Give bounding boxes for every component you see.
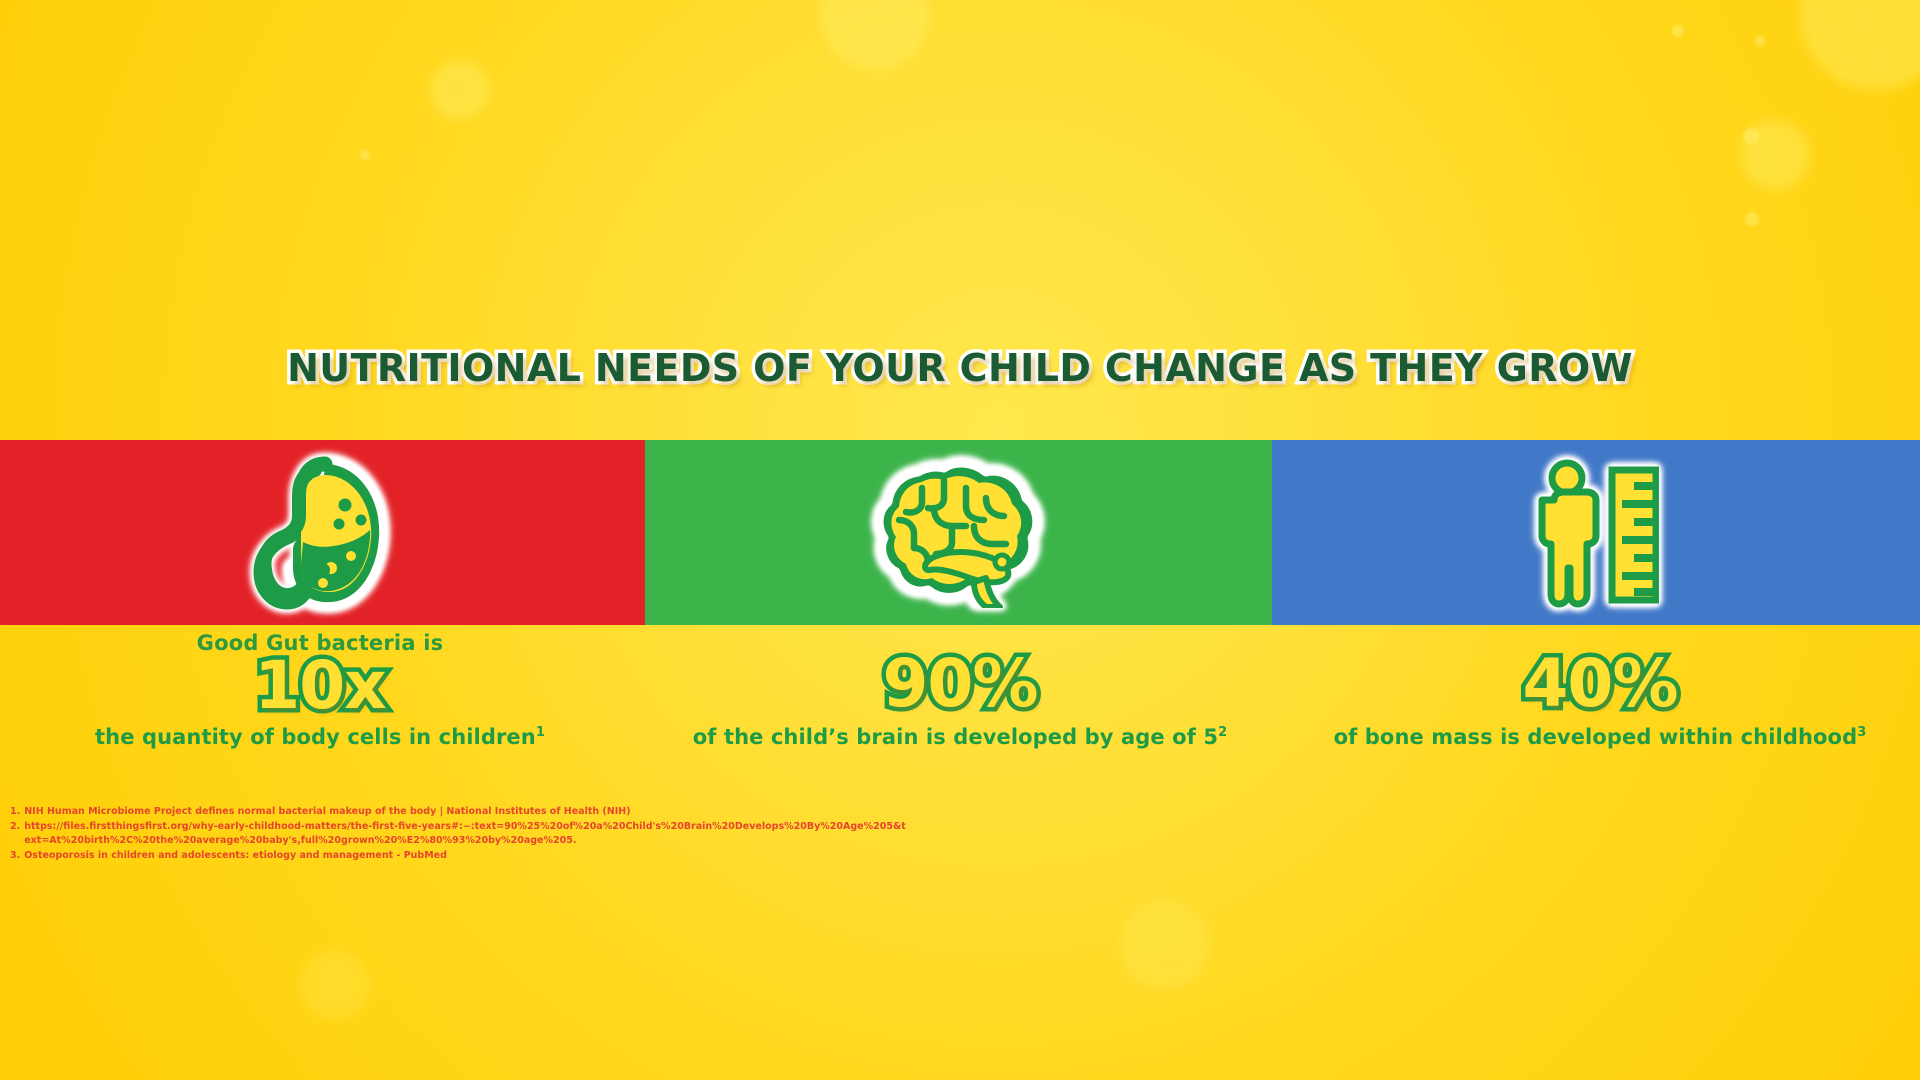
bokeh-circle [1743,128,1759,144]
page-title: NUTRITIONAL NEEDS OF YOUR CHILD CHANGE A… [287,346,1633,390]
icon-panels [0,440,1920,625]
stat-gut: Good Gut bacteria is 10x the quantity of… [0,625,640,785]
stat-caption: of the child’s brain is developed by age… [640,725,1280,749]
stat-value: 90% [640,649,1280,719]
stat-reference-marker: 3 [1857,725,1866,740]
stat-brain: 90% of the child’s brain is developed by… [640,625,1280,785]
bokeh-circle [1755,36,1765,46]
stats-row: Good Gut bacteria is 10x the quantity of… [0,625,1920,785]
stat-value: 10x [0,651,640,721]
reference-text: NIH Human Microbiome Project defines nor… [24,805,910,819]
panel-bone [1272,440,1920,625]
stat-caption: of bone mass is developed within childho… [1280,725,1920,749]
stat-bone: 40% of bone mass is developed within chi… [1280,625,1920,785]
panel-gut [0,440,645,625]
reference-item: 1. NIH Human Microbiome Project defines … [10,805,910,819]
stat-caption-text: of bone mass is developed within childho… [1334,725,1858,749]
reference-number: 1. [10,805,20,819]
stat-caption-text: of the child’s brain is developed by age… [693,725,1218,749]
references-list: 1. NIH Human Microbiome Project defines … [10,805,910,864]
bokeh-circle [1745,212,1759,226]
stat-reference-marker: 1 [536,725,545,740]
reference-number: 3. [10,849,20,863]
stat-reference-marker: 2 [1218,725,1227,740]
reference-number: 2. [10,820,20,848]
page-title-container: NUTRITIONAL NEEDS OF YOUR CHILD CHANGE A… [0,346,1920,390]
stat-value: 40% [1280,649,1920,719]
panel-brain [645,440,1272,625]
height-ruler-icon [1534,458,1659,608]
bokeh-circle [300,950,370,1020]
stat-caption-text: the quantity of body cells in children [95,725,536,749]
reference-text: Osteoporosis in children and adolescents… [24,849,910,863]
bokeh-circle [1672,25,1684,37]
bokeh-circle [1120,900,1210,990]
bokeh-circle [430,60,490,120]
stat-caption: the quantity of body cells in children1 [0,725,640,749]
reference-item: 2. https://files.firstthingsfirst.org/wh… [10,820,910,848]
reference-item: 3. Osteoporosis in children and adolesce… [10,849,910,863]
stomach-icon [253,450,393,615]
bokeh-circle [360,150,370,160]
reference-text: https://files.firstthingsfirst.org/why-e… [24,820,910,848]
brain-icon [874,458,1044,608]
